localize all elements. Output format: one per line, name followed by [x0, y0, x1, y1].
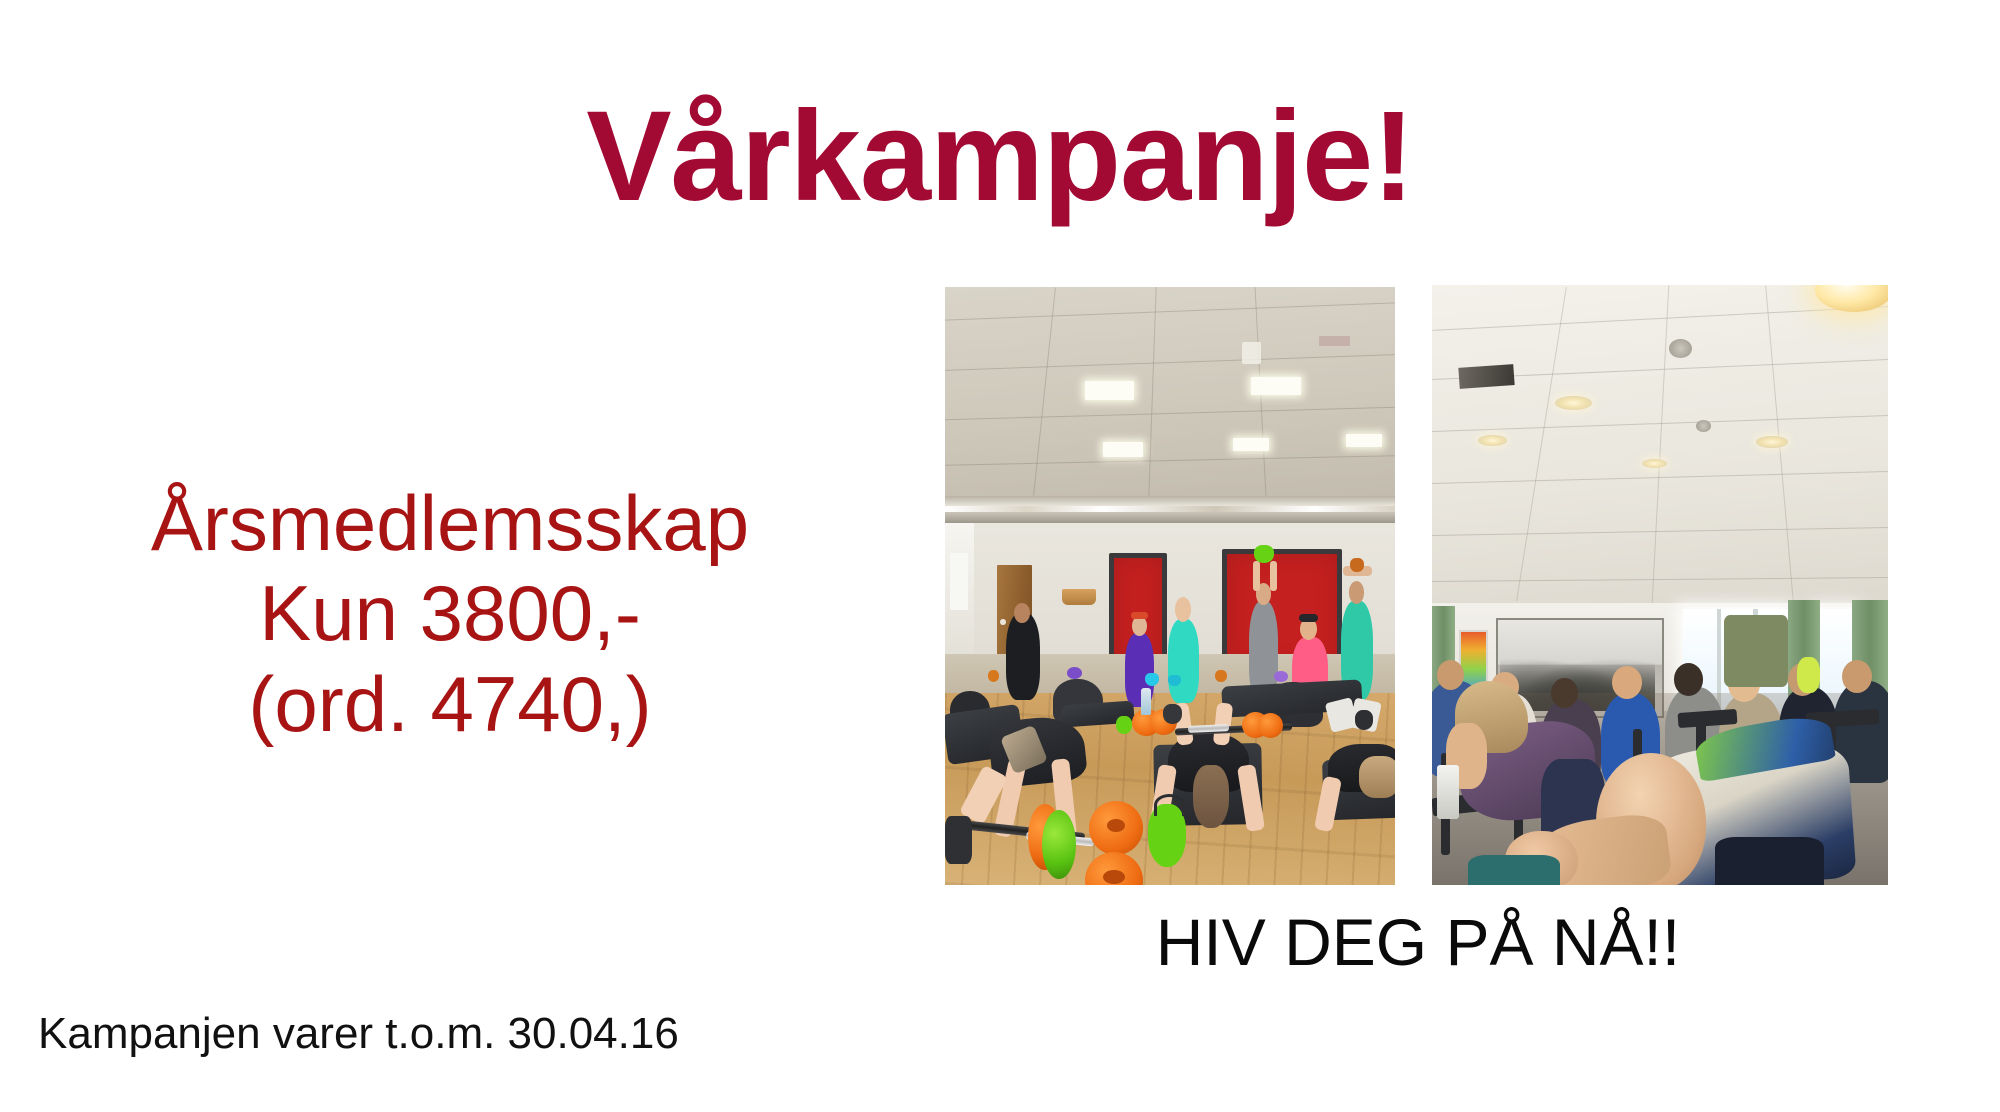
- offer-original-price-label: (ord. 4740,): [100, 659, 800, 749]
- kettlebell: [1163, 704, 1182, 724]
- offer-text-block: Årsmedlemsskap Kun 3800,- (ord. 4740,): [100, 478, 800, 749]
- ceiling-downlight: [1478, 435, 1508, 446]
- weight-plate: [1042, 810, 1076, 879]
- door-handle: [1000, 619, 1006, 626]
- smoke-detector: [1696, 420, 1711, 432]
- kettlebell-overhead: [1254, 545, 1275, 562]
- participant-head: [1175, 597, 1191, 622]
- participant-arm: [1253, 561, 1260, 591]
- rider-head: [1674, 663, 1704, 696]
- participant-standing: [1168, 619, 1200, 703]
- participant-arm: [1270, 561, 1277, 591]
- ceiling-downlight: [1642, 459, 1667, 468]
- ceiling-light: [1251, 377, 1301, 396]
- offer-membership-label: Årsmedlemsskap: [100, 478, 800, 568]
- weight-plate: [1258, 713, 1283, 738]
- photo-group-fitness: [945, 287, 1395, 885]
- photo-spinning-class: [1432, 285, 1888, 885]
- kettlebell-handle: [1154, 794, 1185, 816]
- smoke-detector: [1669, 339, 1692, 358]
- participant-hair: [1193, 765, 1229, 828]
- participant-hair: [1299, 614, 1319, 622]
- campaign-validity-note: Kampanjen varer t.o.m. 30.04.16: [38, 1010, 679, 1058]
- ceiling-light: [1085, 381, 1135, 400]
- kettlebell-overhead: [1350, 558, 1364, 572]
- water-bottle: [1141, 688, 1151, 716]
- rider-head: [1612, 666, 1642, 699]
- ceiling-downlight: [1555, 396, 1591, 410]
- rider-hi-vis-vest: [1797, 657, 1820, 693]
- water-bottle: [1437, 765, 1460, 819]
- ceiling-light: [1346, 434, 1382, 447]
- rider-head: [1551, 678, 1578, 708]
- gym-bag: [1724, 615, 1788, 687]
- ceiling-vent: [1319, 336, 1351, 346]
- towel: [1468, 855, 1559, 885]
- barbell-collar: [945, 816, 972, 864]
- participant-shoe: [1274, 671, 1288, 682]
- studio-ceiling: [945, 287, 1395, 496]
- ceiling-light: [1233, 438, 1269, 451]
- call-to-action-text: HIV DEG PÅ NÅ!!: [945, 908, 1891, 977]
- participant-hair: [1359, 756, 1395, 798]
- participant-shoe: [1145, 673, 1159, 686]
- ceiling-light: [1103, 442, 1144, 456]
- participant-standing: [1006, 613, 1040, 700]
- cycling-shorts: [1715, 837, 1824, 885]
- kettlebell: [1355, 710, 1373, 729]
- kettlebell: [1215, 670, 1227, 683]
- page-title: Vårkampanje!: [0, 88, 2000, 226]
- rider-head: [1437, 660, 1464, 690]
- wall-window: [950, 553, 969, 610]
- ceiling-downlight: [1756, 436, 1788, 447]
- participant-hair: [1067, 667, 1082, 679]
- participant-cap: [1131, 612, 1148, 620]
- promotional-slide: Vårkampanje! Årsmedlemsskap Kun 3800,- (…: [0, 0, 2000, 1112]
- rider-head: [1842, 660, 1872, 693]
- participant-head: [1014, 603, 1030, 623]
- beam-highlight: [945, 506, 1395, 513]
- ceiling-vent: [1242, 342, 1261, 364]
- ceiling-vent: [1459, 364, 1515, 389]
- wall-ornament: [1062, 589, 1096, 605]
- offer-price-label: Kun 3800,-: [100, 568, 800, 658]
